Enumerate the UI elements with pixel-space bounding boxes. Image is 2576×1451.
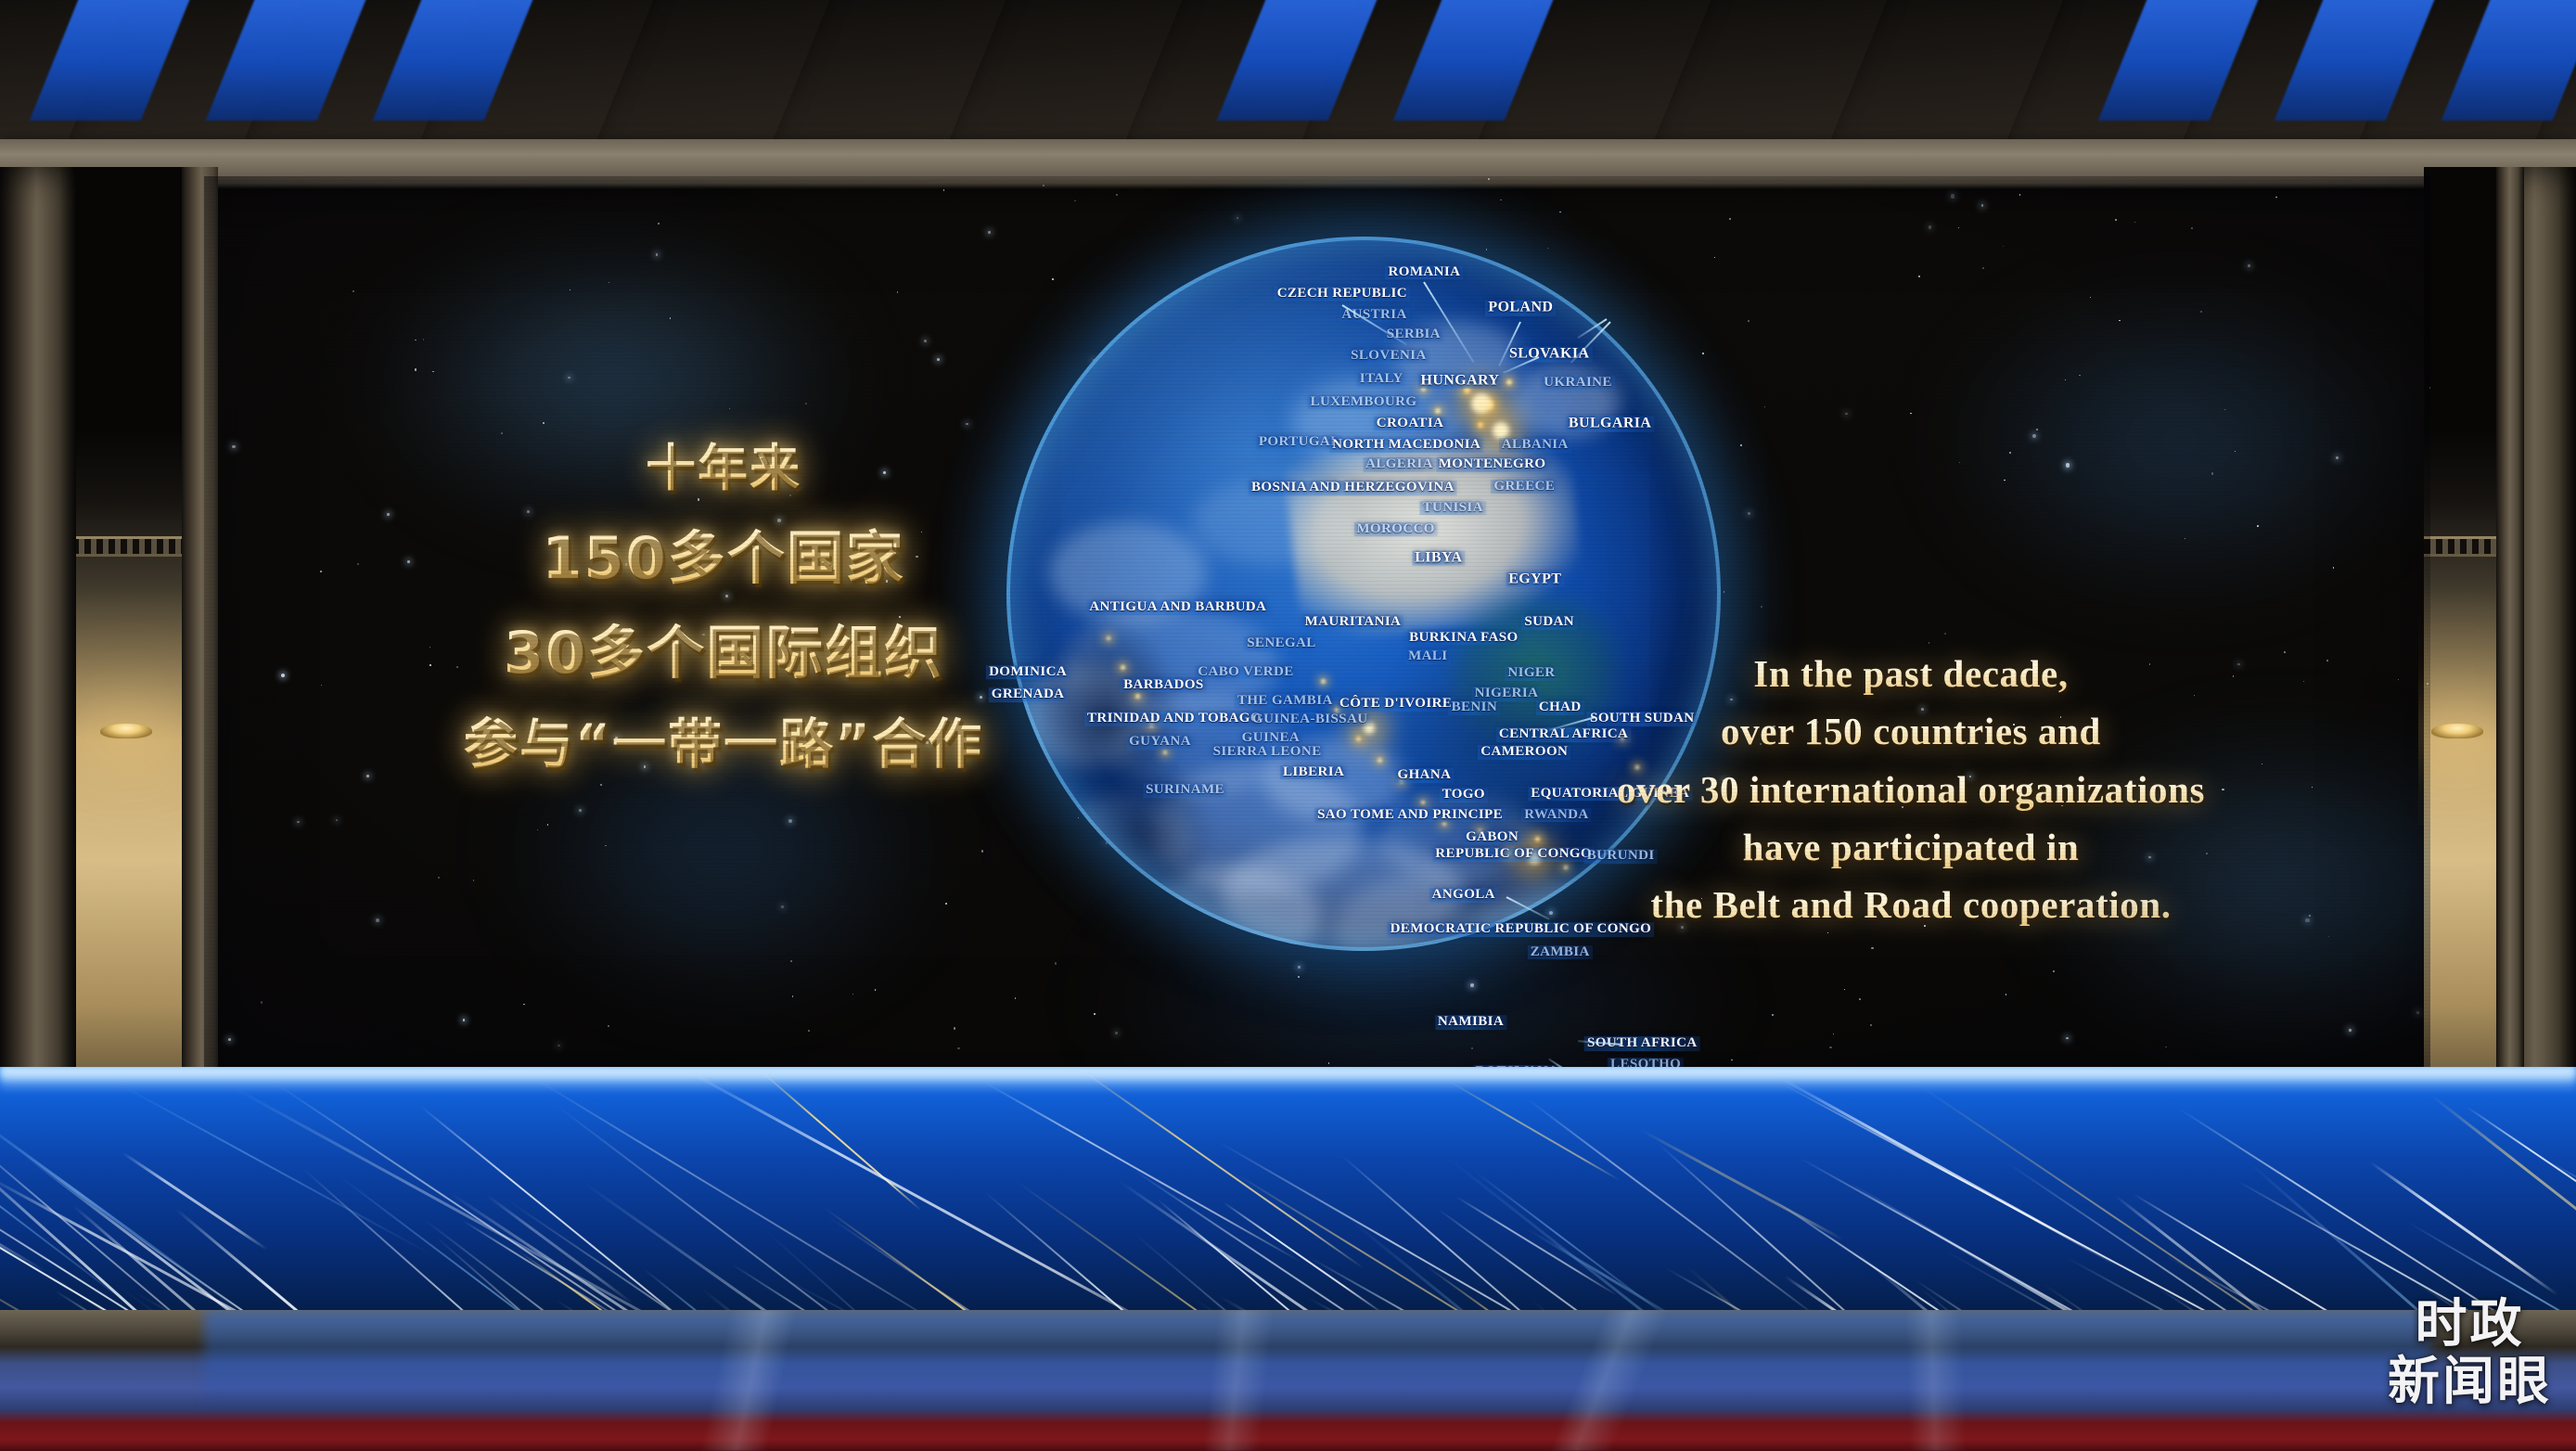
star bbox=[1870, 1024, 1872, 1026]
star bbox=[570, 289, 571, 291]
star bbox=[2224, 409, 2225, 410]
star bbox=[2305, 918, 2310, 923]
star bbox=[1764, 406, 1765, 407]
star bbox=[937, 358, 940, 361]
star bbox=[2115, 219, 2117, 221]
star bbox=[875, 989, 876, 990]
star bbox=[2235, 451, 2236, 452]
country-label: MONTENEGRO bbox=[1436, 458, 1549, 473]
star bbox=[228, 1038, 231, 1041]
star bbox=[2090, 297, 2091, 298]
star bbox=[537, 829, 539, 831]
star bbox=[658, 223, 660, 225]
star bbox=[336, 819, 338, 821]
light-streak bbox=[690, 1072, 1185, 1342]
english-line-4: have participated in bbox=[1540, 818, 2282, 876]
star bbox=[415, 340, 416, 340]
country-label: UKRAINE bbox=[1541, 376, 1615, 391]
star bbox=[1982, 267, 1984, 269]
country-label: GUINEA bbox=[1239, 731, 1302, 746]
star bbox=[423, 339, 424, 340]
english-line-2: over 150 countries and bbox=[1540, 702, 2282, 760]
star bbox=[781, 905, 784, 908]
star bbox=[2284, 651, 2286, 653]
star bbox=[2134, 222, 2135, 223]
country-label: CROATIA bbox=[1374, 417, 1447, 431]
light-streak bbox=[462, 1219, 628, 1323]
star bbox=[432, 371, 434, 373]
star bbox=[1944, 633, 1946, 635]
country-label: SUDAN bbox=[1521, 615, 1577, 630]
star bbox=[320, 571, 322, 572]
star bbox=[547, 824, 549, 826]
country-label: ALBANIA bbox=[1499, 438, 1571, 453]
country-label: TOGO bbox=[1440, 788, 1488, 803]
light-streak bbox=[2548, 1161, 2576, 1290]
star bbox=[2200, 311, 2202, 313]
star bbox=[981, 850, 983, 852]
star bbox=[1074, 200, 1076, 202]
country-label: GHANA bbox=[1395, 768, 1455, 783]
star bbox=[1829, 1047, 1831, 1048]
star bbox=[2065, 379, 2066, 380]
star bbox=[2185, 538, 2185, 539]
country-label: ROMANIA bbox=[1386, 265, 1464, 280]
marble-floor bbox=[0, 1310, 2576, 1451]
country-label: NORTH MACEDONIA bbox=[1329, 438, 1483, 453]
star bbox=[429, 664, 431, 666]
star bbox=[2036, 429, 2038, 430]
country-label: BARBADOS bbox=[1121, 678, 1207, 693]
star bbox=[473, 880, 474, 880]
light-streak bbox=[233, 1086, 825, 1345]
star bbox=[297, 821, 300, 824]
country-label: BOSNIA AND HERZEGOVINA bbox=[1249, 481, 1457, 495]
watermark-line-2: 新闻眼 bbox=[2388, 1356, 2552, 1408]
star bbox=[2349, 1029, 2351, 1031]
star bbox=[988, 231, 990, 233]
country-label: LIBYA bbox=[1412, 550, 1465, 566]
light-streak bbox=[761, 1071, 921, 1211]
light-streak bbox=[0, 1100, 155, 1324]
light-streak bbox=[1640, 1128, 1845, 1240]
star bbox=[1748, 320, 1749, 322]
light-streak bbox=[0, 1111, 246, 1315]
star bbox=[1871, 947, 1873, 949]
country-label: SURINAME bbox=[1143, 783, 1227, 798]
english-caption-block: In the past decade, over 150 countries a… bbox=[1540, 645, 2282, 934]
country-label: BULGARIA bbox=[1566, 416, 1654, 431]
light-streak bbox=[2430, 1094, 2576, 1290]
country-label: THE GAMBIA bbox=[1235, 694, 1336, 709]
country-label: BURKINA FASO bbox=[1406, 631, 1520, 646]
star bbox=[2303, 681, 2304, 682]
star bbox=[2275, 197, 2276, 198]
star bbox=[792, 995, 794, 997]
country-label: ALGERIA bbox=[1363, 458, 1436, 473]
light-streak bbox=[985, 1082, 1301, 1262]
country-label: TRINIDAD AND TOBAGO bbox=[1084, 712, 1264, 726]
star bbox=[609, 282, 609, 283]
light-streak bbox=[1527, 1098, 1824, 1322]
light-streak bbox=[1224, 1201, 1386, 1316]
country-label: CÔTE D'IVOIRE bbox=[1337, 697, 1455, 712]
star bbox=[2328, 936, 2330, 938]
left-balustrade bbox=[72, 536, 184, 557]
english-line-1: In the past decade, bbox=[1540, 645, 2282, 702]
star bbox=[1845, 413, 1848, 416]
star bbox=[2165, 1047, 2167, 1048]
star bbox=[2191, 227, 2193, 229]
light-streak bbox=[2369, 1161, 2558, 1295]
star bbox=[1015, 997, 1017, 999]
star bbox=[387, 513, 390, 516]
star bbox=[656, 253, 659, 256]
right-wall-sconce bbox=[2431, 724, 2483, 738]
star bbox=[232, 445, 236, 449]
light-streak bbox=[1449, 1081, 1619, 1180]
country-label: GUINEA-BISSAU bbox=[1250, 713, 1370, 727]
star bbox=[2066, 463, 2070, 467]
star bbox=[2004, 480, 2005, 481]
star bbox=[1859, 998, 1861, 1000]
chinese-line-2: 150多个国家 bbox=[436, 511, 1011, 595]
country-label: CABO VERDE bbox=[1195, 665, 1296, 680]
star bbox=[608, 1025, 609, 1027]
star bbox=[2336, 456, 2339, 459]
star bbox=[805, 403, 807, 404]
star bbox=[415, 368, 417, 370]
star bbox=[852, 994, 853, 995]
light-streak bbox=[1918, 1084, 2451, 1345]
country-label: ANGOLA bbox=[1429, 888, 1498, 903]
star bbox=[1772, 1014, 1774, 1016]
star bbox=[1844, 989, 1845, 990]
light-streak bbox=[122, 1151, 267, 1250]
star bbox=[1731, 1059, 1732, 1060]
country-label: HUNGARY bbox=[1417, 373, 1502, 389]
star bbox=[438, 877, 440, 879]
star bbox=[357, 563, 359, 565]
star bbox=[543, 422, 545, 424]
star bbox=[808, 1030, 810, 1032]
star bbox=[261, 1001, 263, 1003]
star bbox=[943, 189, 945, 191]
star bbox=[407, 560, 410, 563]
star bbox=[788, 819, 792, 823]
country-label: MALI bbox=[1405, 649, 1450, 664]
star bbox=[897, 291, 898, 292]
country-label: EGYPT bbox=[1506, 571, 1564, 587]
country-label: SENEGAL bbox=[1244, 636, 1319, 651]
star bbox=[1833, 1034, 1834, 1034]
star bbox=[557, 1045, 560, 1047]
star bbox=[321, 685, 322, 686]
star bbox=[2003, 246, 2004, 247]
star bbox=[924, 340, 927, 342]
star bbox=[2211, 472, 2213, 474]
chinese-caption-block: 十年来 150多个国家 30多个国际组织 参与“一带一路”合作 bbox=[436, 427, 1011, 790]
star bbox=[1729, 218, 1731, 220]
star bbox=[352, 290, 354, 292]
country-label: TUNISIA bbox=[1420, 501, 1486, 516]
star bbox=[729, 408, 730, 409]
star bbox=[376, 918, 378, 921]
star bbox=[2032, 434, 2036, 438]
star bbox=[1929, 642, 1930, 644]
country-label: GABON bbox=[1463, 830, 1521, 845]
star bbox=[429, 647, 430, 648]
star bbox=[2429, 387, 2430, 388]
star bbox=[670, 317, 671, 318]
star bbox=[2309, 915, 2311, 917]
marble-veining bbox=[0, 1310, 2576, 1451]
country-label: CZECH REPUBLIC bbox=[1275, 287, 1410, 302]
star bbox=[1559, 212, 1561, 213]
star bbox=[2333, 567, 2335, 569]
right-balustrade bbox=[2424, 536, 2496, 557]
star bbox=[2079, 375, 2080, 376]
star bbox=[1918, 276, 1920, 277]
country-label: SIERRA LEONE bbox=[1211, 745, 1325, 760]
country-label: ZAMBIA bbox=[1528, 945, 1593, 960]
country-label: LIBERIA bbox=[1280, 765, 1347, 780]
stage-apron-light-streaks bbox=[0, 1067, 2576, 1345]
english-line-3: over 30 international organizations bbox=[1540, 761, 2282, 818]
star bbox=[2427, 683, 2429, 685]
star bbox=[2398, 679, 2399, 680]
star bbox=[2119, 320, 2121, 322]
star bbox=[605, 845, 606, 846]
star bbox=[945, 903, 947, 905]
country-label: NIGERIA bbox=[1472, 687, 1542, 701]
light-streak bbox=[1080, 1068, 1365, 1268]
star bbox=[790, 960, 792, 962]
chinese-line-4: 参与“一带一路”合作 bbox=[436, 700, 1011, 778]
country-label: POLAND bbox=[1485, 301, 1556, 316]
country-label: SLOVENIA bbox=[1348, 349, 1429, 364]
star bbox=[1910, 413, 1911, 414]
star bbox=[2248, 264, 2249, 266]
star bbox=[2066, 1037, 2068, 1039]
nebula-cloud bbox=[1939, 288, 2421, 594]
star bbox=[1488, 178, 1490, 180]
country-label: MAURITANIA bbox=[1302, 615, 1404, 630]
star bbox=[1951, 194, 1954, 198]
star bbox=[1959, 462, 1960, 463]
chinese-line-3: 30多个国际组织 bbox=[436, 606, 1011, 689]
country-label: GREECE bbox=[1491, 480, 1557, 494]
star bbox=[2009, 452, 2011, 454]
star bbox=[1115, 1032, 1118, 1034]
led-display-wall: ROMANIACZECH REPUBLICAUSTRIAPOLANDSERBIA… bbox=[204, 176, 2430, 1072]
star bbox=[966, 423, 968, 425]
star bbox=[366, 775, 369, 777]
screenshot-root: ROMANIACZECH REPUBLICAUSTRIAPOLANDSERBIA… bbox=[0, 0, 2576, 1451]
star bbox=[2006, 994, 2006, 995]
star bbox=[954, 1027, 955, 1029]
country-label: GUYANA bbox=[1126, 735, 1194, 750]
country-label: SAO TOME AND PRINCIPE bbox=[1314, 808, 1506, 823]
country-label: ITALY bbox=[1357, 372, 1406, 387]
star bbox=[2326, 660, 2328, 661]
star bbox=[2312, 787, 2313, 788]
star bbox=[1055, 962, 1057, 964]
star bbox=[579, 809, 582, 812]
left-wall-sconce bbox=[100, 724, 152, 738]
star bbox=[1471, 1047, 1473, 1049]
star bbox=[2416, 1011, 2418, 1013]
star bbox=[463, 1019, 466, 1021]
watermark-line-1: 时政 bbox=[2388, 1299, 2552, 1351]
country-label: MOROCCO bbox=[1353, 522, 1437, 537]
star bbox=[281, 674, 285, 677]
star bbox=[1958, 227, 1959, 228]
star bbox=[1094, 1013, 1096, 1015]
star bbox=[957, 1047, 959, 1049]
star bbox=[2019, 194, 2021, 196]
country-label: NAMIBIA bbox=[1435, 1015, 1506, 1030]
star bbox=[1929, 225, 1931, 228]
star bbox=[1043, 185, 1044, 186]
country-label: LUXEMBOURG bbox=[1308, 395, 1420, 410]
star bbox=[2053, 970, 2055, 972]
light-streak bbox=[2467, 1106, 2576, 1250]
star bbox=[1981, 204, 1983, 206]
country-label: ANTIGUA AND BARBUDA bbox=[1086, 601, 1269, 616]
chinese-line-1: 十年来 bbox=[436, 427, 1011, 500]
star bbox=[568, 377, 570, 379]
star bbox=[1116, 194, 1118, 196]
channel-watermark: 时政 新闻眼 bbox=[2388, 1299, 2552, 1408]
apron-top-glow bbox=[0, 1067, 2576, 1091]
english-line-5: the Belt and Road cooperation. bbox=[1540, 876, 2282, 933]
star bbox=[1328, 1062, 1329, 1063]
country-label: BENIN bbox=[1449, 700, 1501, 715]
star bbox=[2257, 525, 2259, 527]
star bbox=[523, 1004, 525, 1006]
